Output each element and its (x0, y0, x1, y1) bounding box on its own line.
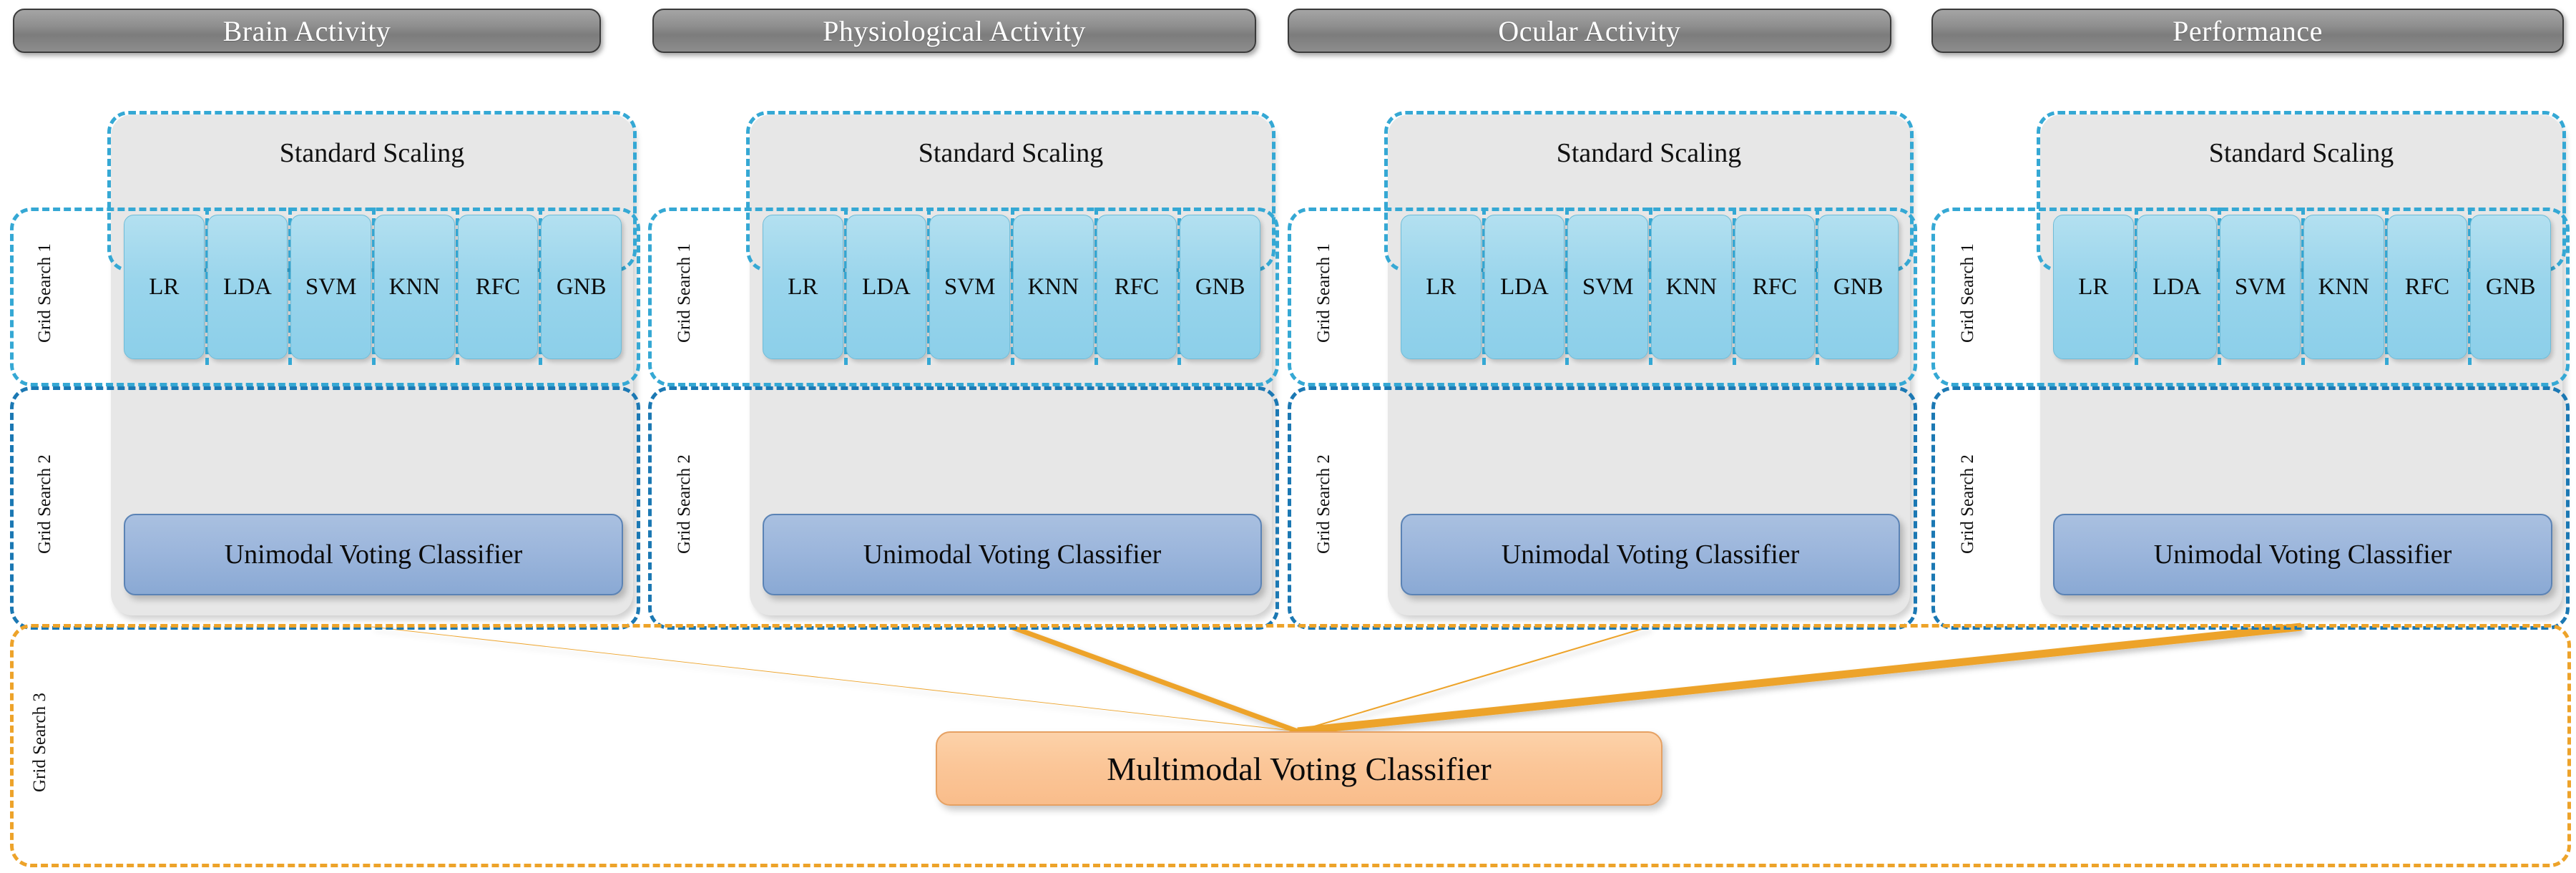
unimodal-voting-classifier-performance[interactable]: Unimodal Voting Classifier (2053, 514, 2552, 595)
unimodal-voting-classifier-label: Unimodal Voting Classifier (863, 539, 1162, 570)
algorithm-chip-label: RFC (2405, 274, 2449, 301)
algorithm-chip-label: RFC (1115, 274, 1159, 301)
grid-search-1-label-physiological: Grid Search 1 (671, 220, 698, 366)
standard-scaling-label-ocular: Standard Scaling (1388, 137, 1910, 169)
algorithm-chip-rfc-performance[interactable]: RFC (2387, 215, 2468, 359)
grid-search-2-label-performance: Grid Search 2 (1954, 401, 1982, 608)
standard-scaling-label-brain: Standard Scaling (111, 137, 633, 169)
algorithm-chip-lda-ocular[interactable]: LDA (1484, 215, 1565, 359)
standard-scaling-label-performance: Standard Scaling (2040, 137, 2562, 169)
modality-header-label: Physiological Activity (823, 14, 1086, 48)
algorithm-chip-svm-performance[interactable]: SVM (2220, 215, 2301, 359)
grid-search-1-label-performance: Grid Search 1 (1954, 220, 1982, 366)
algorithm-chip-gnb-physiological[interactable]: GNB (1180, 215, 1260, 359)
algorithm-chip-knn-ocular[interactable]: KNN (1651, 215, 1732, 359)
algorithm-chip-lr-physiological[interactable]: LR (763, 215, 843, 359)
algorithm-chip-gnb-ocular[interactable]: GNB (1818, 215, 1899, 359)
algorithm-chip-gnb-performance[interactable]: GNB (2470, 215, 2551, 359)
algorithm-chip-lda-performance[interactable]: LDA (2137, 215, 2218, 359)
unimodal-voting-classifier-label: Unimodal Voting Classifier (1502, 539, 1800, 570)
algorithm-row-physiological: LRLDASVMKNNRFCGNB (763, 215, 1259, 358)
algorithm-chip-label: LDA (1500, 274, 1549, 301)
algorithm-chip-label: KNN (389, 274, 441, 301)
algorithm-chip-rfc-physiological[interactable]: RFC (1097, 215, 1177, 359)
unimodal-voting-classifier-brain[interactable]: Unimodal Voting Classifier (124, 514, 623, 595)
algorithm-chip-label: GNB (2486, 274, 2536, 301)
algorithm-chip-label: LR (1426, 274, 1456, 301)
unimodal-voting-classifier-label: Unimodal Voting Classifier (225, 539, 523, 570)
algorithm-chip-label: GNB (557, 274, 607, 301)
grid-search-2-label-brain: Grid Search 2 (31, 401, 59, 608)
algorithm-chip-label: KNN (1666, 274, 1718, 301)
algorithm-row-performance: LRLDASVMKNNRFCGNB (2053, 215, 2550, 358)
algorithm-chip-label: KNN (1028, 274, 1079, 301)
algorithm-chip-label: SVM (1582, 274, 1634, 301)
multimodal-connector-performance (1298, 627, 2301, 731)
modality-header-label: Performance (2173, 14, 2323, 48)
algorithm-chip-label: SVM (2235, 274, 2286, 301)
modality-header-performance[interactable]: Performance (1931, 9, 2564, 53)
algorithm-chip-label: RFC (1753, 274, 1797, 301)
grid-search-1-label-brain: Grid Search 1 (31, 220, 59, 366)
algorithm-chip-lda-physiological[interactable]: LDA (846, 215, 927, 359)
algorithm-row-brain: LRLDASVMKNNRFCGNB (124, 215, 620, 358)
multimodal-connector-ocular (1298, 627, 1649, 731)
algorithm-chip-label: SVM (944, 274, 996, 301)
algorithm-chip-svm-brain[interactable]: SVM (290, 215, 371, 359)
multimodal-connector-brain (372, 627, 1298, 731)
modality-header-physiological[interactable]: Physiological Activity (652, 9, 1256, 53)
modality-header-label: Ocular Activity (1498, 14, 1680, 48)
algorithm-chip-label: KNN (2318, 274, 2370, 301)
algorithm-row-ocular: LRLDASVMKNNRFCGNB (1401, 215, 1897, 358)
algorithm-chip-label: GNB (1833, 274, 1884, 301)
algorithm-chip-lr-brain[interactable]: LR (124, 215, 205, 359)
algorithm-chip-knn-performance[interactable]: KNN (2303, 215, 2384, 359)
algorithm-chip-label: RFC (476, 274, 520, 301)
algorithm-chip-lda-brain[interactable]: LDA (207, 215, 288, 359)
standard-scaling-label-physiological: Standard Scaling (750, 137, 1272, 169)
modality-header-brain[interactable]: Brain Activity (13, 9, 601, 53)
algorithm-chip-label: GNB (1195, 274, 1245, 301)
algorithm-chip-svm-physiological[interactable]: SVM (929, 215, 1010, 359)
algorithm-chip-rfc-brain[interactable]: RFC (458, 215, 539, 359)
algorithm-chip-knn-brain[interactable]: KNN (374, 215, 455, 359)
multimodal-connector-physiological (1011, 627, 1298, 731)
grid-search-3-label: Grid Search 3 (26, 644, 54, 841)
multimodal-connector-lines (372, 627, 2301, 731)
algorithm-chip-label: LR (788, 274, 818, 301)
algorithm-chip-label: LR (2078, 274, 2108, 301)
algorithm-chip-label: SVM (305, 274, 357, 301)
algorithm-chip-label: LDA (223, 274, 272, 301)
algorithm-chip-knn-physiological[interactable]: KNN (1013, 215, 1094, 359)
algorithm-chip-gnb-brain[interactable]: GNB (541, 215, 622, 359)
grid-search-1-label-ocular: Grid Search 1 (1311, 220, 1338, 366)
unimodal-voting-classifier-label: Unimodal Voting Classifier (2154, 539, 2452, 570)
algorithm-chip-svm-ocular[interactable]: SVM (1567, 215, 1648, 359)
grid-search-2-label-physiological: Grid Search 2 (671, 401, 698, 608)
algorithm-chip-rfc-ocular[interactable]: RFC (1735, 215, 1816, 359)
multimodal-voting-classifier[interactable]: Multimodal Voting Classifier (936, 731, 1662, 806)
modality-header-label: Brain Activity (223, 14, 391, 48)
algorithm-chip-lr-ocular[interactable]: LR (1401, 215, 1482, 359)
unimodal-voting-classifier-ocular[interactable]: Unimodal Voting Classifier (1401, 514, 1900, 595)
grid-search-2-label-ocular: Grid Search 2 (1311, 401, 1338, 608)
pipeline-diagram: Brain ActivityStandard ScalingGrid Searc… (0, 0, 2576, 873)
algorithm-chip-label: LR (149, 274, 179, 301)
modality-header-ocular[interactable]: Ocular Activity (1288, 9, 1891, 53)
unimodal-voting-classifier-physiological[interactable]: Unimodal Voting Classifier (763, 514, 1262, 595)
algorithm-chip-label: LDA (2153, 274, 2201, 301)
algorithm-chip-label: LDA (862, 274, 911, 301)
algorithm-chip-lr-performance[interactable]: LR (2053, 215, 2134, 359)
